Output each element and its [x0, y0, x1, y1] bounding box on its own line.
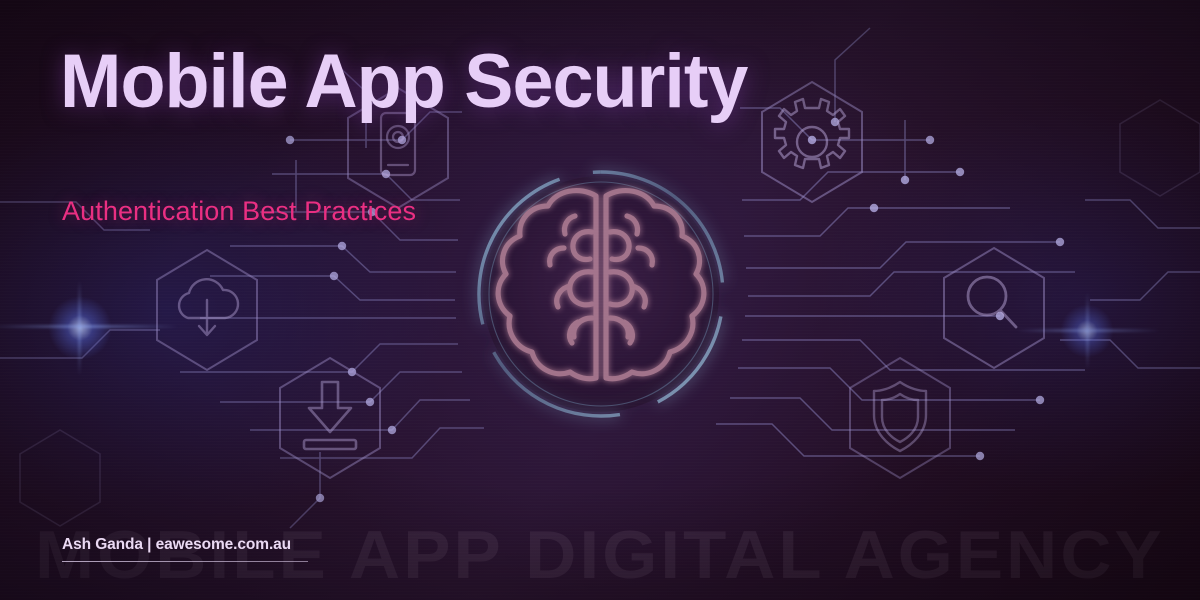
hex-cloud-download — [157, 250, 257, 370]
download-arrow-icon — [304, 382, 356, 449]
circuit-nodes-right — [808, 118, 1064, 460]
hero-banner: MOBILE APP DIGITAL AGENCY Mobile App Sec… — [0, 0, 1200, 600]
center-disc — [483, 176, 719, 412]
footer-credit-block: Ash Ganda | eawesome.com.au — [62, 536, 308, 563]
hex-shield — [850, 358, 950, 478]
hex-search — [944, 248, 1044, 368]
circuit-traces-right — [716, 28, 1200, 456]
author-credit: Ash Ganda | eawesome.com.au — [62, 536, 308, 554]
cloud-download-icon — [179, 279, 238, 335]
page-title: Mobile App Security — [60, 44, 747, 120]
hexagon-outline — [944, 248, 1044, 368]
hex-download — [280, 358, 380, 478]
gear-icon — [775, 99, 849, 168]
hexagon-outline — [280, 358, 380, 478]
shield-icon — [874, 382, 926, 451]
hexagon-outline — [850, 358, 950, 478]
search-magnifier-icon — [968, 277, 1016, 327]
footer-divider — [62, 561, 308, 563]
page-subtitle: Authentication Best Practices — [62, 196, 416, 227]
circuit-traces-left — [0, 62, 484, 528]
